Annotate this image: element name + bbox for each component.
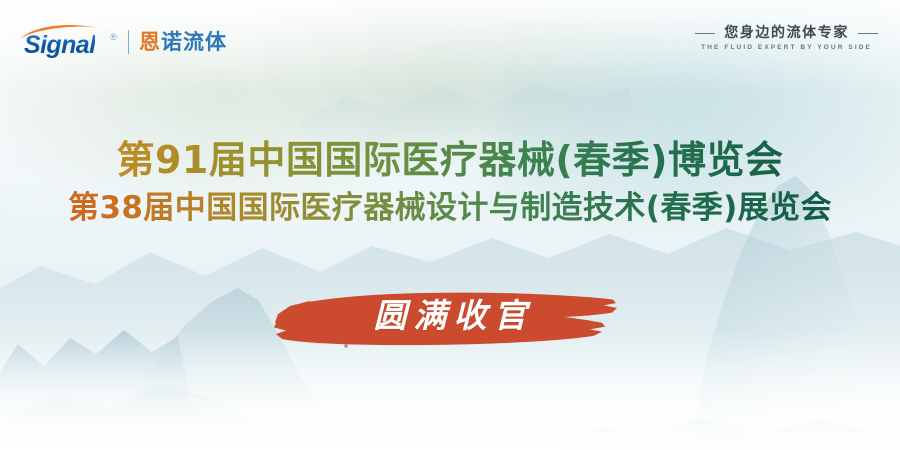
brush-banner: 圆满收官 bbox=[272, 284, 628, 360]
logo-divider bbox=[128, 30, 129, 54]
tagline-english: THE FLUID EXPERT BY YOUR SIDE bbox=[701, 44, 872, 51]
brand-tagline: 您身边的流体专家 THE FLUID EXPERT BY YOUR SIDE bbox=[695, 26, 878, 51]
tagline-row: 您身边的流体专家 bbox=[695, 26, 878, 41]
tagline-rule-left bbox=[695, 33, 715, 34]
promotional-poster: Signal ® 恩诺流体 您身边的流体专家 THE FLUID EXPERT … bbox=[0, 0, 900, 450]
poster-header: Signal ® 恩诺流体 您身边的流体专家 THE FLUID EXPERT … bbox=[0, 0, 900, 84]
event-title-primary: 第91届中国国际医疗器械(春季)博览会 bbox=[0, 138, 900, 183]
brand-chinese-name: 恩诺流体 bbox=[139, 32, 227, 53]
brand-chinese-rest: 诺流体 bbox=[161, 30, 227, 54]
event-title-secondary: 第38届中国国际医疗器械设计与制造技术(春季)展览会 bbox=[0, 190, 900, 227]
brand-logo[interactable]: Signal ® 恩诺流体 bbox=[18, 24, 227, 60]
brand-chinese-first-char: 恩 bbox=[139, 30, 161, 54]
registered-trademark-icon: ® bbox=[110, 32, 117, 42]
signal-logomark: Signal ® bbox=[18, 24, 114, 60]
tagline-chinese: 您身边的流体专家 bbox=[724, 26, 849, 41]
tagline-rule-right bbox=[858, 33, 878, 34]
banner-slogan: 圆满收官 bbox=[272, 298, 628, 334]
signal-wordmark: Signal bbox=[24, 31, 95, 60]
poster-titles: 第91届中国国际医疗器械(春季)博览会 第38届中国国际医疗器械设计与制造技术(… bbox=[0, 138, 900, 226]
